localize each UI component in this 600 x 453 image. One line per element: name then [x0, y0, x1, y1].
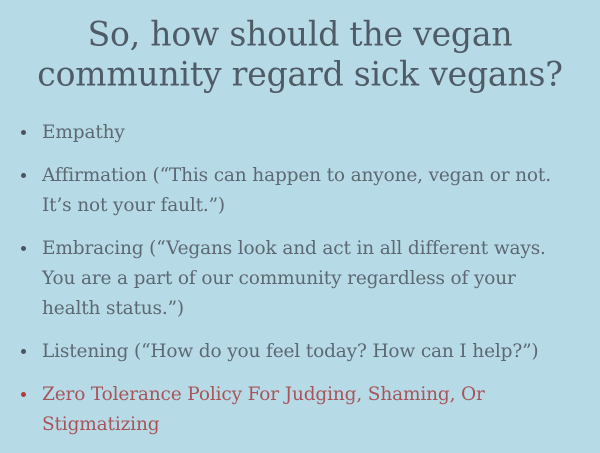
bullet-text: Embracing (“Vegans look and act in all d… [42, 234, 578, 324]
bullet-text: Empathy [42, 118, 578, 148]
bullet-dot-icon [21, 173, 26, 178]
slide-title-line-1: So, how should the vegan [0, 14, 600, 54]
bullet-text: Affirmation (“This can happen to anyone,… [42, 161, 578, 221]
list-item: Affirmation (“This can happen to anyone,… [0, 161, 600, 221]
list-item: Empathy [0, 118, 600, 148]
slide-title-line-2: community regard sick vegans? [0, 54, 600, 94]
list-item: Listening (“How do you feel today? How c… [0, 337, 600, 367]
bullet-dot-icon [21, 349, 26, 354]
list-item: Embracing (“Vegans look and act in all d… [0, 234, 600, 324]
slide-title: So, how should the vegan community regar… [0, 14, 600, 94]
bullet-dot-icon [21, 246, 26, 251]
bullet-dot-icon [21, 392, 26, 397]
presentation-slide: So, how should the vegan community regar… [0, 0, 600, 450]
bullet-text: Listening (“How do you feel today? How c… [42, 337, 578, 367]
bullet-text: Zero Tolerance Policy For Judging, Shami… [42, 380, 578, 440]
bullet-list: Empathy Affirmation (“This can happen to… [0, 118, 600, 453]
list-item-highlighted: Zero Tolerance Policy For Judging, Shami… [0, 380, 600, 440]
bullet-dot-icon [21, 130, 26, 135]
